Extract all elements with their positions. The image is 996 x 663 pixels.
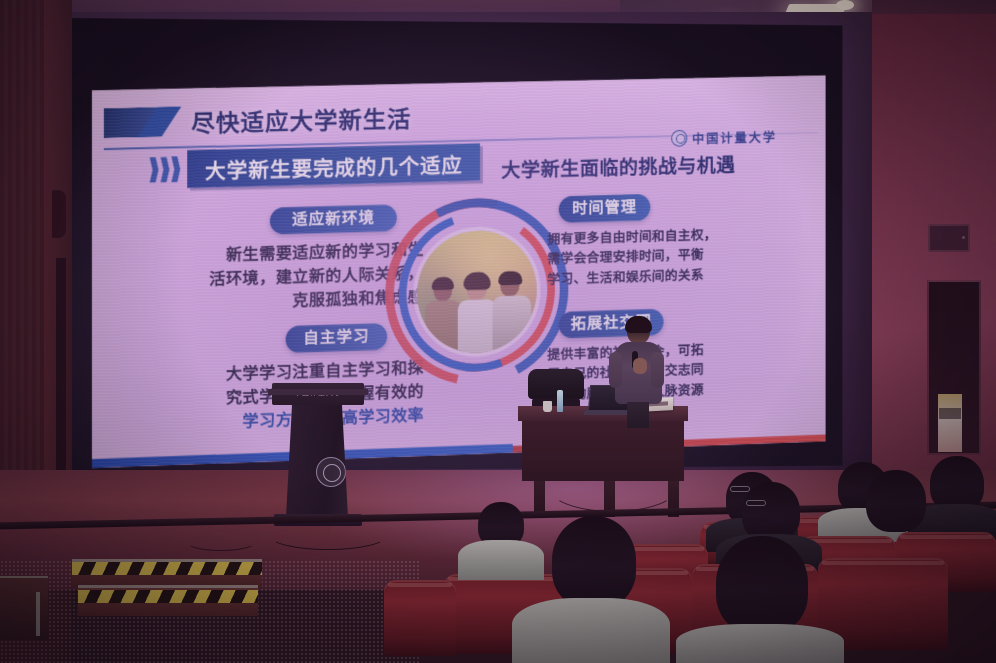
student-figure <box>493 267 533 353</box>
lecture-hall-photo: 尽快适应大学新生活 大学新生要完成的几个适应 大学新生面临的挑战与机遇 中国计量… <box>0 0 996 663</box>
students-photo <box>417 229 537 354</box>
left-wall-recess <box>52 190 66 238</box>
left-column-banner: 大学新生要完成的几个适应 <box>187 143 480 188</box>
audience-head <box>716 536 808 634</box>
speaker-person <box>607 318 669 418</box>
paragraph-adapt-new-environment: 新生需要适应新的学习和生 活环境，建立新的人际关系， 克服孤独和焦虑感 <box>140 239 424 318</box>
wall-vent <box>928 224 970 252</box>
right-column-heading: 大学新生面临的挑战与机遇 <box>501 149 735 183</box>
center-circular-graphic <box>385 196 568 388</box>
audience-shoulders <box>512 598 670 663</box>
audience-shoulders <box>676 624 844 663</box>
audience-shoulders <box>458 540 544 580</box>
chair-back <box>528 369 584 399</box>
speaker-arm-right <box>651 352 664 388</box>
slide-title: 尽快适应大学新生活 <box>191 100 411 139</box>
pill-adapt-new-environment: 适应新环境 <box>270 204 397 234</box>
theater-seat <box>384 580 456 656</box>
pill-self-directed-learning: 自主学习 <box>286 323 387 353</box>
pill-time-management: 时间管理 <box>559 194 651 223</box>
university-name: 中国计量大学 <box>692 126 777 146</box>
university-logo: 中国计量大学 <box>671 127 777 147</box>
presentation-slide: 尽快适应大学新生活 大学新生要完成的几个适应 大学新生面临的挑战与机遇 中国计量… <box>92 75 826 468</box>
audience-head <box>866 470 926 532</box>
audience-area <box>0 440 996 663</box>
speaker-hair <box>625 316 652 333</box>
left-column-banner-label: 大学新生要完成的几个适应 <box>187 149 480 186</box>
paper-cup <box>543 401 552 412</box>
spot-light-icon <box>836 0 854 10</box>
banner-arrows-icon <box>150 156 184 183</box>
paragraph-time-management: 拥有更多自由时间和自主权， 需学会合理安排时间，平衡 学习、生活和娱乐间的关系 <box>547 224 784 290</box>
poster-text-block <box>939 408 961 419</box>
eyeglasses-icon <box>746 500 766 506</box>
podium-lip <box>268 389 368 395</box>
led-screen: 尽快适应大学新生活 大学新生要完成的几个适应 大学新生面临的挑战与机遇 中国计量… <box>70 18 842 473</box>
university-seal-icon <box>671 129 687 146</box>
speaker-legs <box>627 402 649 428</box>
water-bottle <box>557 390 563 412</box>
audience-head <box>742 482 800 542</box>
eyeglasses-icon <box>730 486 750 492</box>
speaker-arm-left <box>609 352 622 388</box>
speaker-hands <box>633 358 647 374</box>
audience-head <box>552 516 636 608</box>
